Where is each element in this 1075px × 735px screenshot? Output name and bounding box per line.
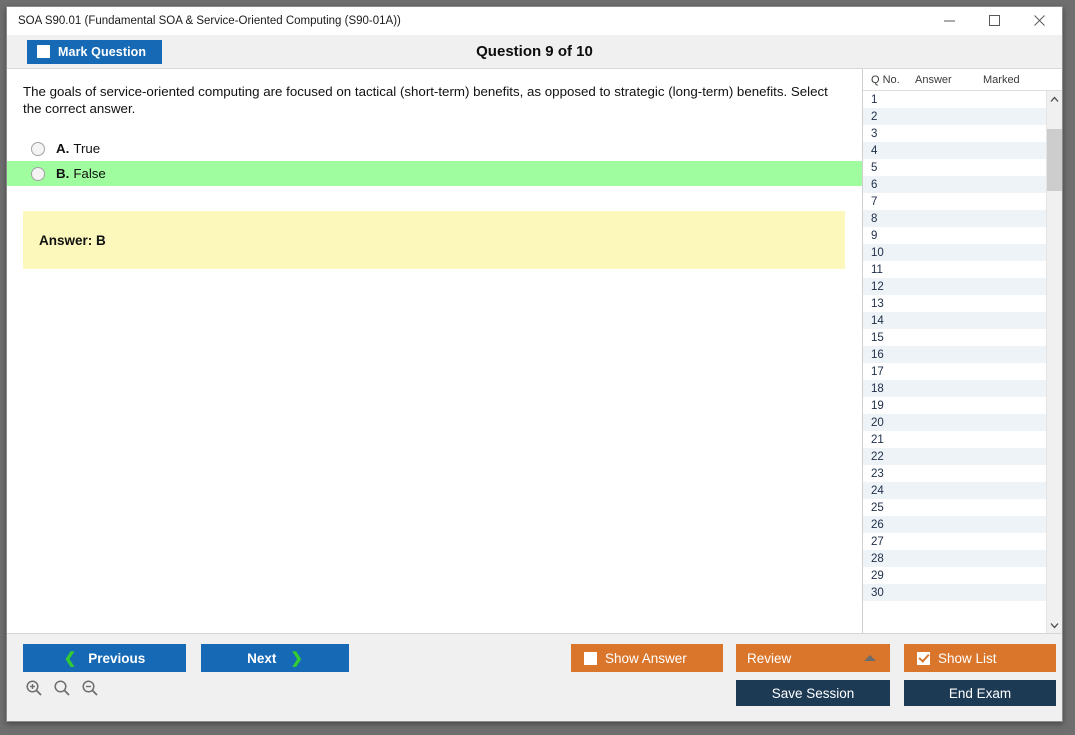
question-list-row-number: 24 <box>863 485 915 497</box>
column-header-marked: Marked <box>983 74 1062 86</box>
answer-text: Answer: B <box>39 233 106 248</box>
question-list-row-number: 11 <box>863 264 915 276</box>
question-list-row[interactable]: 24 <box>863 482 1046 499</box>
question-list-row[interactable]: 23 <box>863 465 1046 482</box>
zoom-out-icon[interactable] <box>81 679 99 702</box>
question-list-row[interactable]: 6 <box>863 176 1046 193</box>
option-a-label: True <box>73 141 100 156</box>
question-list-row[interactable]: 20 <box>863 414 1046 431</box>
mark-question-label: Mark Question <box>58 45 146 59</box>
question-list-row-number: 14 <box>863 315 915 327</box>
save-session-button[interactable]: Save Session <box>736 680 890 706</box>
chevron-up-icon <box>864 655 876 661</box>
minimize-icon[interactable] <box>927 7 972 35</box>
show-list-label: Show List <box>938 651 997 666</box>
column-header-answer: Answer <box>915 74 983 86</box>
question-list-row-number: 3 <box>863 128 915 140</box>
option-row-a[interactable]: A. True <box>7 136 862 161</box>
question-list-row-number: 1 <box>863 94 915 106</box>
question-list-row-number: 13 <box>863 298 915 310</box>
question-list-row-number: 9 <box>863 230 915 242</box>
end-exam-button[interactable]: End Exam <box>904 680 1056 706</box>
question-list-row[interactable]: 7 <box>863 193 1046 210</box>
exam-footer: ❮ Previous Next ❯ Show Answer Review Sho… <box>7 633 1062 721</box>
question-list-row-number: 30 <box>863 587 915 599</box>
previous-button[interactable]: ❮ Previous <box>23 644 186 672</box>
question-list-row-number: 5 <box>863 162 915 174</box>
question-list-row-number: 15 <box>863 332 915 344</box>
question-list-row[interactable]: 5 <box>863 159 1046 176</box>
mark-question-button[interactable]: Mark Question <box>27 40 162 64</box>
question-list-row[interactable]: 2 <box>863 108 1046 125</box>
show-answer-button[interactable]: Show Answer <box>571 644 723 672</box>
option-row-b[interactable]: B. False <box>7 161 862 186</box>
window-title: SOA S90.01 (Fundamental SOA & Service-Or… <box>7 15 927 27</box>
answer-options-list: A. True B. False <box>7 136 862 186</box>
question-list-row-number: 20 <box>863 417 915 429</box>
question-list-row[interactable]: 22 <box>863 448 1046 465</box>
show-answer-label: Show Answer <box>605 651 687 666</box>
question-list-row[interactable]: 29 <box>863 567 1046 584</box>
next-label: Next <box>247 651 276 666</box>
question-list-row[interactable]: 16 <box>863 346 1046 363</box>
question-list-row-number: 25 <box>863 502 915 514</box>
question-list-row-number: 8 <box>863 213 915 225</box>
question-list-row-number: 26 <box>863 519 915 531</box>
question-list-row[interactable]: 19 <box>863 397 1046 414</box>
column-header-qno: Q No. <box>863 74 915 86</box>
close-icon[interactable] <box>1017 7 1062 35</box>
question-list-row-number: 29 <box>863 570 915 582</box>
show-list-checkbox[interactable] <box>917 652 930 665</box>
question-list-row-number: 28 <box>863 553 915 565</box>
question-list-row-number: 27 <box>863 536 915 548</box>
question-list-row[interactable]: 21 <box>863 431 1046 448</box>
question-list-header: Q No. Answer Marked <box>863 69 1062 91</box>
next-button[interactable]: Next ❯ <box>201 644 349 672</box>
question-list-row[interactable]: 30 <box>863 584 1046 601</box>
question-list-row[interactable]: 17 <box>863 363 1046 380</box>
answer-reveal-box: Answer: B <box>23 211 845 269</box>
question-list-row-number: 6 <box>863 179 915 191</box>
question-list-scroll-wrap: 1234567891011121314151617181920212223242… <box>863 91 1062 633</box>
question-list-row-number: 19 <box>863 400 915 412</box>
exam-header-bar: Mark Question Question 9 of 10 <box>7 35 1062 69</box>
question-list-row[interactable]: 10 <box>863 244 1046 261</box>
question-text: The goals of service-oriented computing … <box>7 69 862 117</box>
question-list-row[interactable]: 14 <box>863 312 1046 329</box>
zoom-in-icon[interactable] <box>25 679 43 702</box>
question-list-row-number: 2 <box>863 111 915 123</box>
question-list-row-number: 23 <box>863 468 915 480</box>
question-list-row[interactable]: 4 <box>863 142 1046 159</box>
option-a-letter: A. <box>56 141 69 156</box>
question-list-row[interactable]: 26 <box>863 516 1046 533</box>
option-b-letter: B. <box>56 166 69 181</box>
question-list-row-number: 17 <box>863 366 915 378</box>
radio-option-b[interactable] <box>31 167 45 181</box>
question-list-row[interactable]: 12 <box>863 278 1046 295</box>
question-list-row-number: 4 <box>863 145 915 157</box>
question-list-row[interactable]: 3 <box>863 125 1046 142</box>
chevron-right-icon: ❯ <box>290 649 303 667</box>
save-session-label: Save Session <box>772 686 855 701</box>
exam-window: SOA S90.01 (Fundamental SOA & Service-Or… <box>6 6 1063 722</box>
radio-option-a[interactable] <box>31 142 45 156</box>
question-list-row-number: 18 <box>863 383 915 395</box>
zoom-toolbar <box>25 679 99 702</box>
scroll-down-icon[interactable] <box>1047 617 1062 633</box>
question-list-scrollbar[interactable] <box>1046 91 1062 633</box>
window-titlebar: SOA S90.01 (Fundamental SOA & Service-Or… <box>7 7 1062 35</box>
question-list-row[interactable]: 11 <box>863 261 1046 278</box>
question-list-row-number: 22 <box>863 451 915 463</box>
show-list-button[interactable]: Show List <box>904 644 1056 672</box>
question-list-row-number: 7 <box>863 196 915 208</box>
question-list-rows: 1234567891011121314151617181920212223242… <box>863 91 1046 633</box>
scroll-up-icon[interactable] <box>1047 91 1062 107</box>
mark-question-checkbox[interactable] <box>37 45 50 58</box>
end-exam-label: End Exam <box>949 686 1011 701</box>
question-list-row[interactable]: 8 <box>863 210 1046 227</box>
question-list-row[interactable]: 25 <box>863 499 1046 516</box>
question-list-row-number: 10 <box>863 247 915 259</box>
review-label: Review <box>747 651 791 666</box>
show-answer-checkbox[interactable] <box>584 652 597 665</box>
question-list-row[interactable]: 13 <box>863 295 1046 312</box>
question-list-row-number: 16 <box>863 349 915 361</box>
question-counter: Question 9 of 10 <box>7 43 1062 60</box>
question-list-pane: Q No. Answer Marked 12345678910111213141… <box>862 69 1062 633</box>
scrollbar-thumb[interactable] <box>1047 129 1062 191</box>
question-list-row[interactable]: 18 <box>863 380 1046 397</box>
previous-label: Previous <box>88 651 145 666</box>
exam-body: The goals of service-oriented computing … <box>7 69 1062 633</box>
question-list-row[interactable]: 28 <box>863 550 1046 567</box>
option-b-label: False <box>73 166 106 181</box>
review-dropdown[interactable]: Review <box>736 644 890 672</box>
scrollbar-track[interactable] <box>1047 107 1062 617</box>
question-list-row[interactable]: 15 <box>863 329 1046 346</box>
question-list-row[interactable]: 1 <box>863 91 1046 108</box>
chevron-left-icon: ❮ <box>64 649 77 667</box>
question-list-row[interactable]: 27 <box>863 533 1046 550</box>
question-list-row-number: 12 <box>863 281 915 293</box>
question-pane: The goals of service-oriented computing … <box>7 69 862 633</box>
question-list-row-number: 21 <box>863 434 915 446</box>
maximize-icon[interactable] <box>972 7 1017 35</box>
question-list-row[interactable]: 9 <box>863 227 1046 244</box>
zoom-normal-icon[interactable] <box>53 679 71 702</box>
